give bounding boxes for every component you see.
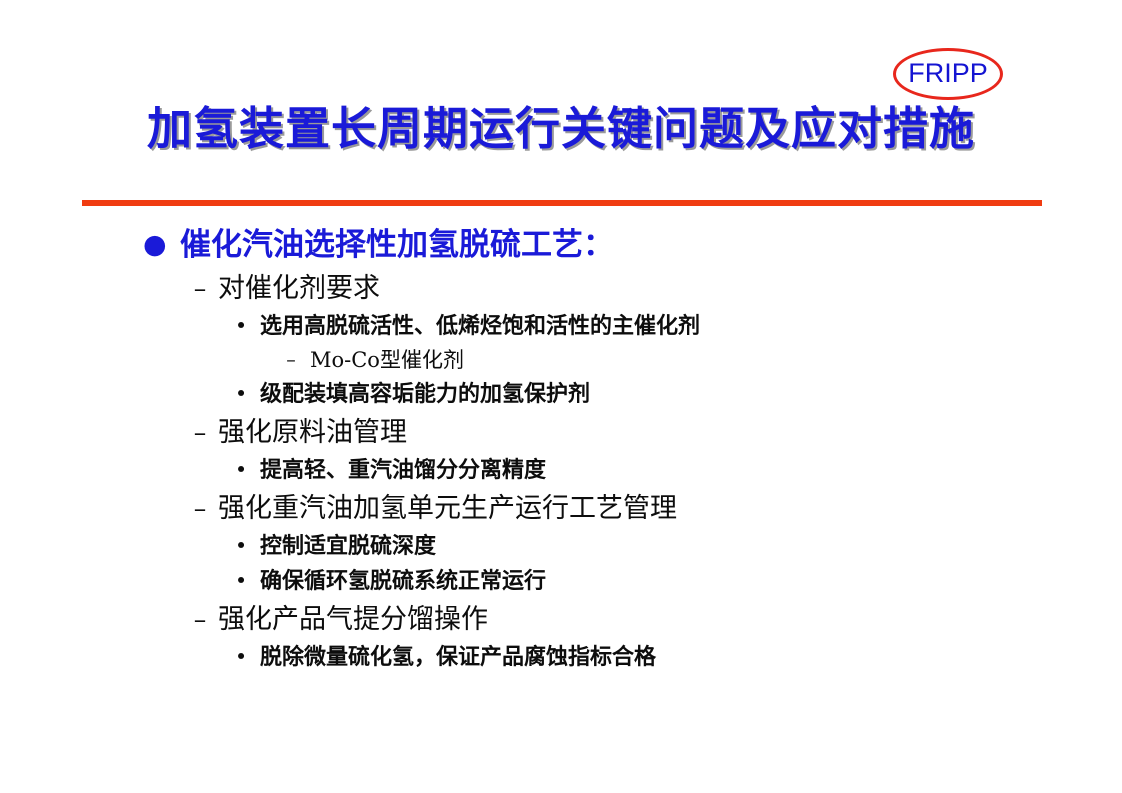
logo-text: FRIPP (893, 48, 1003, 100)
outline-item-label: 级配装填高容垢能力的加氢保护剂 (260, 377, 590, 412)
outline-item-label: Mo-Co型催化剂 (310, 344, 464, 377)
outline-item-label: 强化产品气提分馏操作 (218, 599, 488, 640)
bullet-marker-level3: • (234, 640, 248, 675)
bullet-marker-level2: – (192, 488, 208, 529)
outline-item-level1: ● 催化汽油选择性加氢脱硫工艺： (0, 222, 1122, 268)
outline-item-level3: • 提高轻、重汽油馏分分离精度 (0, 453, 1122, 488)
fripp-logo: FRIPP (893, 48, 1003, 100)
bullet-marker-level4: – (284, 344, 298, 377)
bullet-marker-level3: • (234, 309, 248, 344)
bullet-marker-level2: – (192, 268, 208, 309)
slide-title: 加氢装置长周期运行关键问题及应对措施 (0, 100, 1122, 158)
outline-item-label: 脱除微量硫化氢，保证产品腐蚀指标合格 (260, 640, 656, 675)
outline-item-level3: • 确保循环氢脱硫系统正常运行 (0, 564, 1122, 599)
bullet-marker-level2: – (192, 599, 208, 640)
title-divider (82, 200, 1042, 206)
outline-item-level2: – 强化原料油管理 (0, 412, 1122, 453)
outline-item-level2: – 对催化剂要求 (0, 268, 1122, 309)
outline-item-level3: • 级配装填高容垢能力的加氢保护剂 (0, 377, 1122, 412)
outline-item-label: 提高轻、重汽油馏分分离精度 (260, 453, 546, 488)
outline-item-label: 控制适宜脱硫深度 (260, 529, 436, 564)
bullet-marker-level3: • (234, 377, 248, 412)
outline-item-label: 催化汽油选择性加氢脱硫工艺： (180, 222, 614, 268)
outline-item-level4: – Mo-Co型催化剂 (0, 344, 1122, 377)
outline-item-level2: – 强化重汽油加氢单元生产运行工艺管理 (0, 488, 1122, 529)
slide-body-outline: ● 催化汽油选择性加氢脱硫工艺： – 对催化剂要求 • 选用高脱硫活性、低烯烃饱… (0, 222, 1122, 675)
outline-item-label: 确保循环氢脱硫系统正常运行 (260, 564, 546, 599)
outline-item-label: 选用高脱硫活性、低烯烃饱和活性的主催化剂 (260, 309, 700, 344)
outline-item-level3: • 脱除微量硫化氢，保证产品腐蚀指标合格 (0, 640, 1122, 675)
presentation-slide: FRIPP 加氢装置长周期运行关键问题及应对措施 ● 催化汽油选择性加氢脱硫工艺… (0, 0, 1122, 793)
bullet-marker-level3: • (234, 453, 248, 488)
bullet-marker-level3: • (234, 564, 248, 599)
outline-item-level2: – 强化产品气提分馏操作 (0, 599, 1122, 640)
bullet-marker-level1: ● (143, 222, 159, 268)
bullet-marker-level2: – (192, 412, 208, 453)
outline-item-label: 强化原料油管理 (218, 412, 407, 453)
bullet-marker-level3: • (234, 529, 248, 564)
outline-item-level3: • 选用高脱硫活性、低烯烃饱和活性的主催化剂 (0, 309, 1122, 344)
outline-item-label: 强化重汽油加氢单元生产运行工艺管理 (218, 488, 677, 529)
outline-item-level3: • 控制适宜脱硫深度 (0, 529, 1122, 564)
outline-item-label: 对催化剂要求 (218, 268, 380, 309)
